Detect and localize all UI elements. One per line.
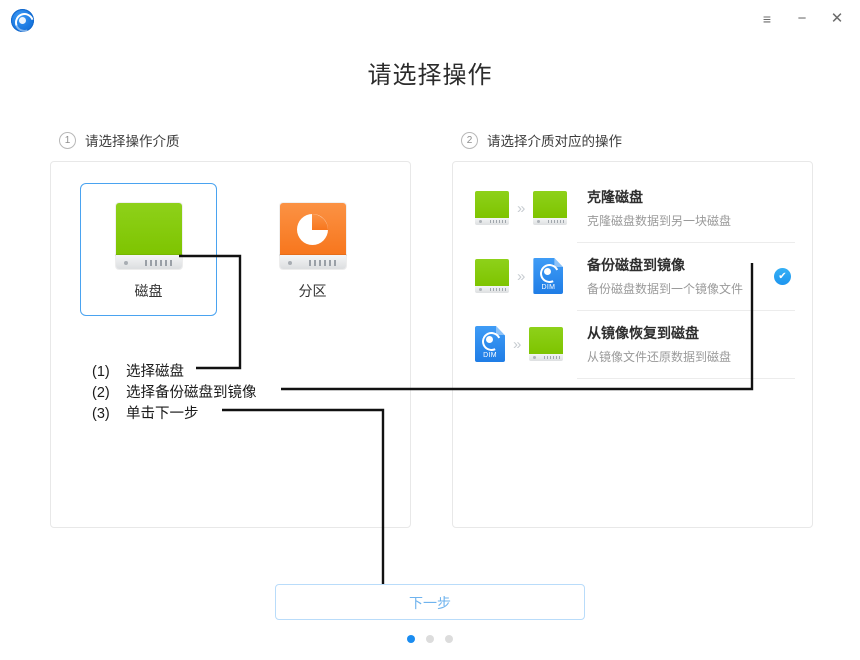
operation-text: 克隆磁盘 克隆磁盘数据到另一块磁盘 (577, 187, 795, 229)
operation-desc: 从镜像文件还原数据到磁盘 (587, 348, 795, 365)
operation-panel: » 克隆磁盘 克隆磁盘数据到另一块磁盘 » DIM 备份磁盘到镜像 备份磁盘数据… (452, 161, 813, 528)
partition-led (288, 261, 292, 265)
app-logo-center (19, 17, 26, 24)
step-label-1: 请选择操作介质 (85, 130, 180, 150)
partition-icon (280, 203, 346, 269)
pagination-dot-1[interactable] (407, 635, 415, 643)
hamburger-menu-icon[interactable]: ≡ (758, 10, 776, 28)
operation-divider (577, 378, 795, 379)
step-header-operation: 2 请选择介质对应的操作 (461, 130, 622, 150)
next-step-button[interactable]: 下一步 (275, 584, 585, 620)
step-number-badge-2: 2 (461, 132, 478, 149)
dim-file-label: DIM (533, 284, 563, 291)
annotation-step-2-number: (2) (92, 385, 126, 401)
annotation-step-2: (2)选择备份磁盘到镜像 (92, 381, 257, 402)
window-controls: ≡ − ✕ (758, 10, 846, 28)
media-option-disk-label: 磁盘 (81, 281, 216, 301)
operation-title: 备份磁盘到镜像 (587, 255, 795, 275)
step-number-badge-1: 1 (59, 132, 76, 149)
close-icon[interactable]: ✕ (828, 10, 846, 28)
minimize-icon[interactable]: − (793, 10, 811, 28)
annotation-step-1-text: 选择磁盘 (126, 364, 184, 380)
media-panel: 磁盘 分区 (50, 161, 411, 528)
dim-file-label: DIM (475, 352, 505, 359)
disk-icon (475, 259, 509, 293)
disk-icon (533, 191, 567, 225)
selected-check-icon: ✔ (774, 268, 791, 285)
operation-desc: 克隆磁盘数据到另一块磁盘 (587, 212, 795, 229)
pagination-dots (0, 635, 860, 643)
operation-icons: » (471, 191, 577, 225)
operation-option-restore-image-to-disk[interactable]: DIM » 从镜像恢复到磁盘 从镜像文件还原数据到磁盘 (471, 310, 795, 378)
pagination-dot-3[interactable] (445, 635, 453, 643)
app-logo-icon (11, 9, 34, 32)
media-option-partition-label: 分区 (245, 281, 380, 301)
arrow-right-icon: » (513, 337, 521, 352)
dim-image-file-icon: DIM (475, 326, 505, 362)
step-header-media: 1 请选择操作介质 (59, 130, 180, 150)
operation-text: 从镜像恢复到磁盘 从镜像文件还原数据到磁盘 (577, 323, 795, 365)
disk-icon (529, 327, 563, 361)
annotation-step-3: (3)单击下一步 (92, 402, 199, 423)
media-option-partition[interactable]: 分区 (244, 183, 381, 316)
operation-icons: » DIM (471, 258, 577, 294)
disk-led (124, 261, 128, 265)
operation-title: 从镜像恢复到磁盘 (587, 323, 795, 343)
disk-vents (145, 260, 175, 266)
operation-text: 备份磁盘到镜像 备份磁盘数据到一个镜像文件 (577, 255, 795, 297)
title-bar: ≡ − ✕ (0, 0, 860, 40)
operation-title: 克隆磁盘 (587, 187, 795, 207)
annotation-step-3-text: 单击下一步 (126, 406, 199, 422)
arrow-right-icon: » (517, 269, 525, 284)
page-title: 请选择操作 (0, 55, 860, 90)
operation-option-backup-disk-to-image[interactable]: » DIM 备份磁盘到镜像 备份磁盘数据到一个镜像文件 ✔ (471, 242, 795, 310)
operation-desc: 备份磁盘数据到一个镜像文件 (587, 280, 795, 297)
annotation-step-3-number: (3) (92, 406, 126, 422)
disk-icon (475, 191, 509, 225)
partition-vents (309, 260, 339, 266)
pagination-dot-2[interactable] (426, 635, 434, 643)
annotation-step-1-number: (1) (92, 364, 126, 380)
step-label-2: 请选择介质对应的操作 (487, 130, 622, 150)
arrow-right-icon: » (517, 201, 525, 216)
annotation-step-1: (1)选择磁盘 (92, 360, 184, 381)
operation-icons: DIM » (471, 326, 577, 362)
annotation-step-2-text: 选择备份磁盘到镜像 (126, 385, 257, 401)
media-option-disk[interactable]: 磁盘 (80, 183, 217, 316)
disk-body (116, 203, 182, 255)
disk-icon (116, 203, 182, 269)
dim-image-file-icon: DIM (533, 258, 563, 294)
operation-option-clone-disk[interactable]: » 克隆磁盘 克隆磁盘数据到另一块磁盘 (471, 174, 795, 242)
